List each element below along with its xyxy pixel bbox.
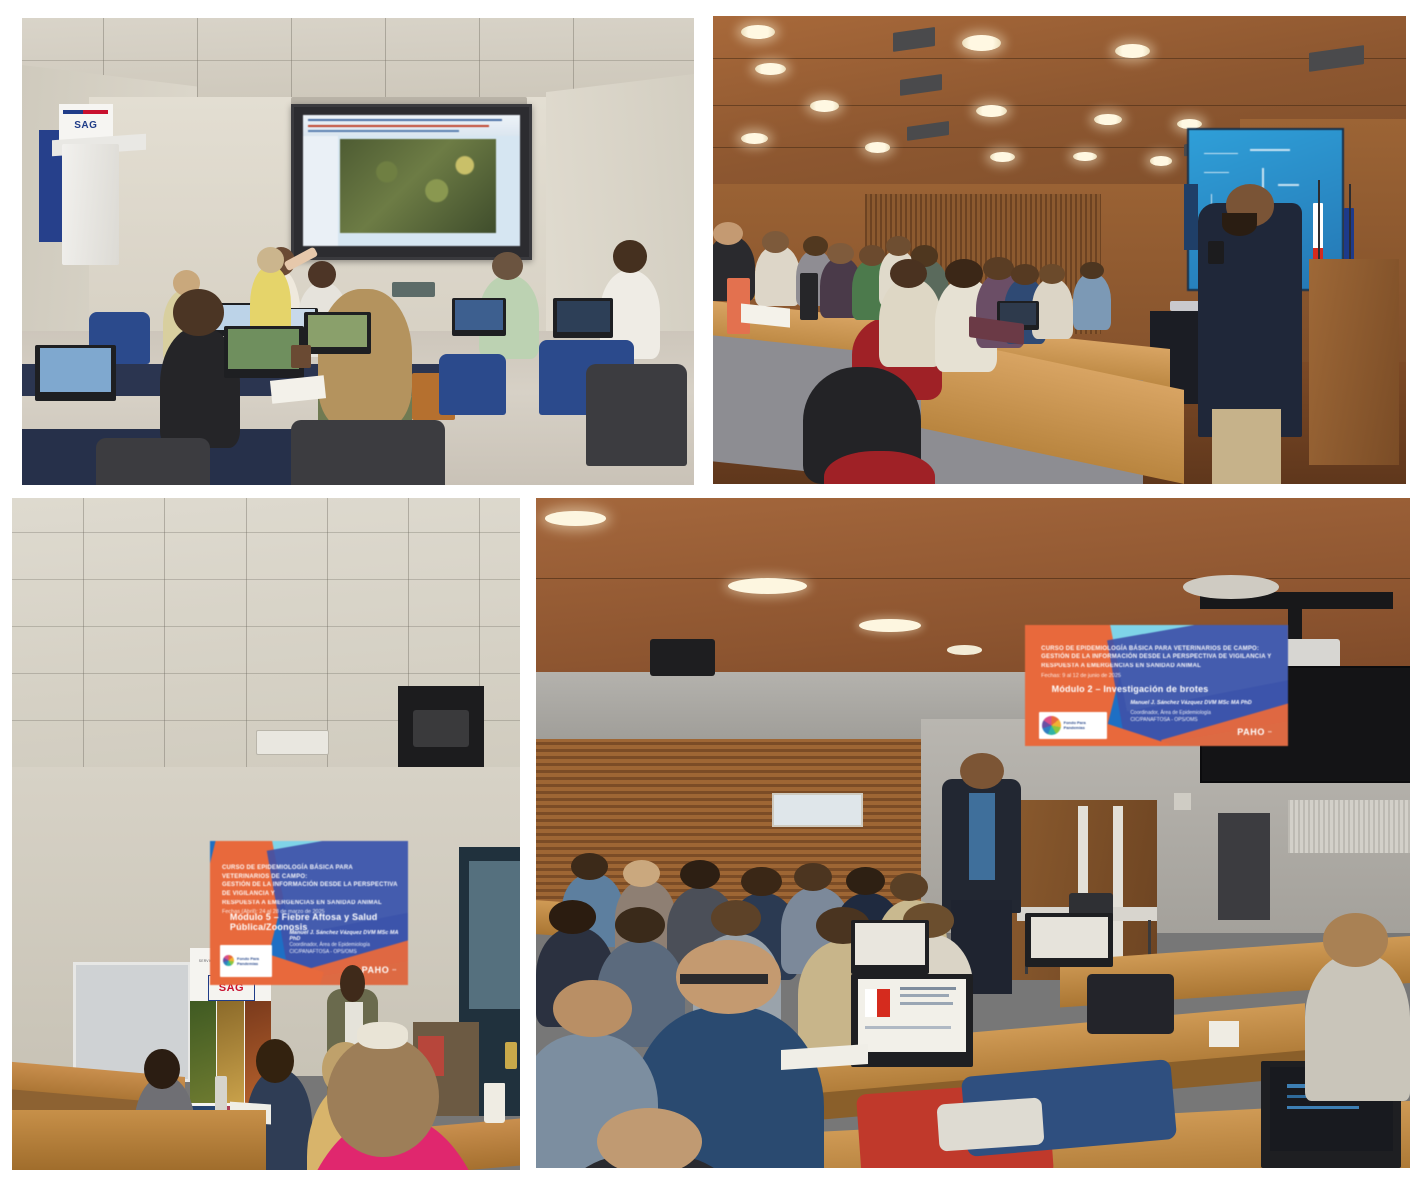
attendee-head xyxy=(1039,264,1065,284)
fondo-logo-text: Fondo Para Pandemias xyxy=(237,956,268,966)
laptop-slide-flag xyxy=(865,989,889,1017)
attendee-head xyxy=(308,261,336,288)
attendee-hair xyxy=(318,289,412,429)
paper-sheet xyxy=(270,375,326,404)
projected-slide-module-5: CURSO DE EPIDEMIOLOGÍA BÁSICA PARA VETER… xyxy=(210,841,408,985)
podium xyxy=(1218,813,1270,920)
attendee-head xyxy=(846,867,884,895)
fondo-logo-mark xyxy=(1042,716,1061,735)
laptop xyxy=(553,298,613,338)
door-glass xyxy=(469,861,520,1009)
attendee xyxy=(755,245,800,306)
attendee-head xyxy=(762,231,790,253)
attendee-right-head xyxy=(1323,913,1389,967)
chair xyxy=(439,354,506,415)
attendee-head xyxy=(827,243,853,264)
ceiling-light xyxy=(545,511,606,526)
speaker-legs xyxy=(1212,409,1281,484)
ceiling-light xyxy=(990,152,1015,162)
attendee-head xyxy=(144,1049,180,1089)
ceiling-light xyxy=(865,142,890,152)
desk-foreground xyxy=(12,1110,266,1170)
slide-coordinator: Coordinador, Área de Epidemiología CIC/P… xyxy=(289,942,400,957)
photo-bottom-right: CURSO DE EPIDEMIOLOGÍA BÁSICA PARA VETER… xyxy=(536,498,1410,1168)
sag-banner-label: SAG xyxy=(61,120,110,131)
attendee-foreground-head xyxy=(597,1108,702,1168)
course-title-line-3: RESPUESTA A EMERGENCIAS EN SANIDAD ANIMA… xyxy=(222,899,400,908)
course-dates: Fechas: 9 al 12 de junio de 2025 xyxy=(1041,673,1277,679)
presenter-head xyxy=(960,753,1004,790)
attendee-right xyxy=(1305,954,1410,1101)
presenter-head xyxy=(340,965,365,1002)
photo-top-left: SAG xyxy=(22,18,694,485)
fondo-pandemias-logo: Fondo Para Pandemias xyxy=(220,945,272,977)
ceiling-light xyxy=(976,105,1006,117)
coordinator-line-1: Coordinador, Área de Epidemiología xyxy=(289,942,400,950)
slide-title-block: CURSO DE EPIDEMIOLOGÍA BÁSICA PARA VETER… xyxy=(222,864,400,915)
radiator xyxy=(1288,800,1410,854)
paho-logo-text: PAHO xyxy=(1237,727,1265,737)
slide-title-block: CURSO DE EPIDEMIOLOGÍA BÁSICA PARA VETER… xyxy=(1041,645,1277,679)
attendee xyxy=(879,278,941,367)
ceiling-light xyxy=(1150,156,1172,165)
attendee-pink-head xyxy=(327,1036,439,1157)
laptop xyxy=(452,298,506,335)
laptop xyxy=(35,345,116,401)
attendee-head xyxy=(803,236,828,256)
fondo-logo-mark xyxy=(223,955,234,966)
lectern xyxy=(1309,259,1399,465)
attendee-head xyxy=(615,907,666,943)
ceiling-light xyxy=(947,645,982,654)
attendee-head xyxy=(886,236,911,256)
ceiling-light xyxy=(962,35,1000,51)
attendee-head xyxy=(741,867,781,896)
speaker-beard xyxy=(1222,213,1257,236)
ceiling-dome-light xyxy=(1183,575,1279,599)
backpack xyxy=(1087,974,1174,1034)
module-title: Módulo 5 – Fiebre Aftosa y Salud Pública… xyxy=(230,912,396,932)
laptop-open xyxy=(1025,913,1112,967)
coffee-cup xyxy=(291,345,311,368)
ceiling-speaker xyxy=(650,639,716,676)
door-gap xyxy=(1113,806,1123,967)
podium xyxy=(62,144,119,265)
laptop xyxy=(851,920,930,974)
chair xyxy=(96,438,210,485)
hair-tie xyxy=(357,1022,408,1049)
paho-logo: PAHO ≡≡ xyxy=(362,965,397,975)
attendee-head xyxy=(945,259,982,288)
chair xyxy=(586,364,687,467)
coffee-cup xyxy=(1209,1021,1239,1048)
coffee-cup xyxy=(484,1083,504,1123)
ceiling-vent xyxy=(256,730,329,755)
attendee-foreground-head xyxy=(553,980,632,1037)
laptop-open xyxy=(851,974,973,1068)
speaker-body xyxy=(1198,203,1302,437)
photo-bottom-left: SERVICIO AGRÍCOLA Y GANADERO SAG xyxy=(12,498,520,1170)
slide-coordinator: Coordinador, Área de Epidemiología CIC/P… xyxy=(1130,710,1277,725)
projection-screen xyxy=(291,104,532,259)
attendee-head xyxy=(571,853,608,880)
coordinator-line-1: Coordinador, Área de Epidemiología xyxy=(1130,710,1277,718)
laptop xyxy=(304,312,371,354)
paho-logo-sub: ≡≡ xyxy=(1268,730,1272,734)
course-title-line-1: CURSO DE EPIDEMIOLOGÍA BÁSICA PARA VETER… xyxy=(222,864,400,881)
gis-layer-panel xyxy=(303,136,338,246)
attendee-head xyxy=(623,860,660,887)
wall-window xyxy=(772,793,863,827)
eyeglasses xyxy=(680,974,767,985)
attendee-head xyxy=(257,247,284,273)
gis-map-canvas xyxy=(340,139,496,234)
course-title-line-1: CURSO DE EPIDEMIOLOGÍA BÁSICA PARA VETER… xyxy=(1041,645,1277,654)
attendee-head xyxy=(1080,262,1104,280)
attendee-head xyxy=(256,1039,294,1083)
attendee xyxy=(1073,273,1111,329)
wall-outlet xyxy=(1174,793,1191,810)
slide-author: Manuel J. Sánchez Vázquez DVM MSc MA PhD xyxy=(289,930,400,942)
microphone xyxy=(1208,241,1223,264)
gis-toolbar xyxy=(303,115,519,136)
sag-stripe xyxy=(63,110,108,114)
module-title: Módulo 2 – Investigación de brotes xyxy=(1052,684,1272,694)
attendee-head xyxy=(613,240,647,273)
attendee-head xyxy=(549,900,596,934)
coordinator-line-2: CIC/PANAFTOSA - OPS/OMS xyxy=(289,949,400,957)
ceiling-seam xyxy=(536,578,1410,579)
attendee-head xyxy=(983,257,1013,280)
presenter-shirt xyxy=(969,793,995,880)
course-title-line-2: GESTIÓN DE LA INFORMACIÓN DESDE LA PERSP… xyxy=(1041,653,1277,662)
course-title-line-2: GESTIÓN DE LA INFORMACIÓN DESDE LA PERSP… xyxy=(222,881,400,898)
ceiling-light xyxy=(1115,44,1150,58)
banner-photo xyxy=(190,1001,216,1103)
fondo-logo-text: Fondo Para Pandemias xyxy=(1064,720,1104,730)
attendee-head xyxy=(1011,264,1039,285)
photo-collage: SAG xyxy=(0,0,1420,1190)
paho-logo-sub: ≡≡ xyxy=(392,968,396,972)
ceiling-light xyxy=(1073,152,1097,161)
chair xyxy=(291,420,446,485)
screen-bezel xyxy=(1184,184,1198,250)
fondo-pandemias-logo: Fondo Para Pandemias xyxy=(1039,712,1107,739)
attendee-head xyxy=(173,289,223,336)
ceiling-light xyxy=(810,100,839,112)
photo-top-right xyxy=(713,16,1406,484)
table-projector xyxy=(392,282,436,297)
coordinator-line-2: CIC/PANAFTOSA - OPS/OMS xyxy=(1130,717,1277,725)
course-title-line-3: RESPUESTA A EMERGENCIAS EN SANIDAD ANIMA… xyxy=(1041,662,1277,671)
white-garment xyxy=(937,1097,1045,1151)
thermos-black xyxy=(800,273,818,320)
ceiling-light xyxy=(859,619,920,632)
gis-software-slide xyxy=(303,115,519,247)
slide-author: Manuel J. Sánchez Vázquez DVM MSc MA PhD xyxy=(1130,700,1277,706)
paho-logo-text: PAHO xyxy=(362,965,390,975)
ceiling-projector xyxy=(413,710,469,747)
paho-logo: PAHO ≡≡ xyxy=(1237,727,1272,737)
door-handle xyxy=(505,1042,518,1069)
projected-slide-module-2: CURSO DE EPIDEMIOLOGÍA BÁSICA PARA VETER… xyxy=(1025,625,1287,746)
